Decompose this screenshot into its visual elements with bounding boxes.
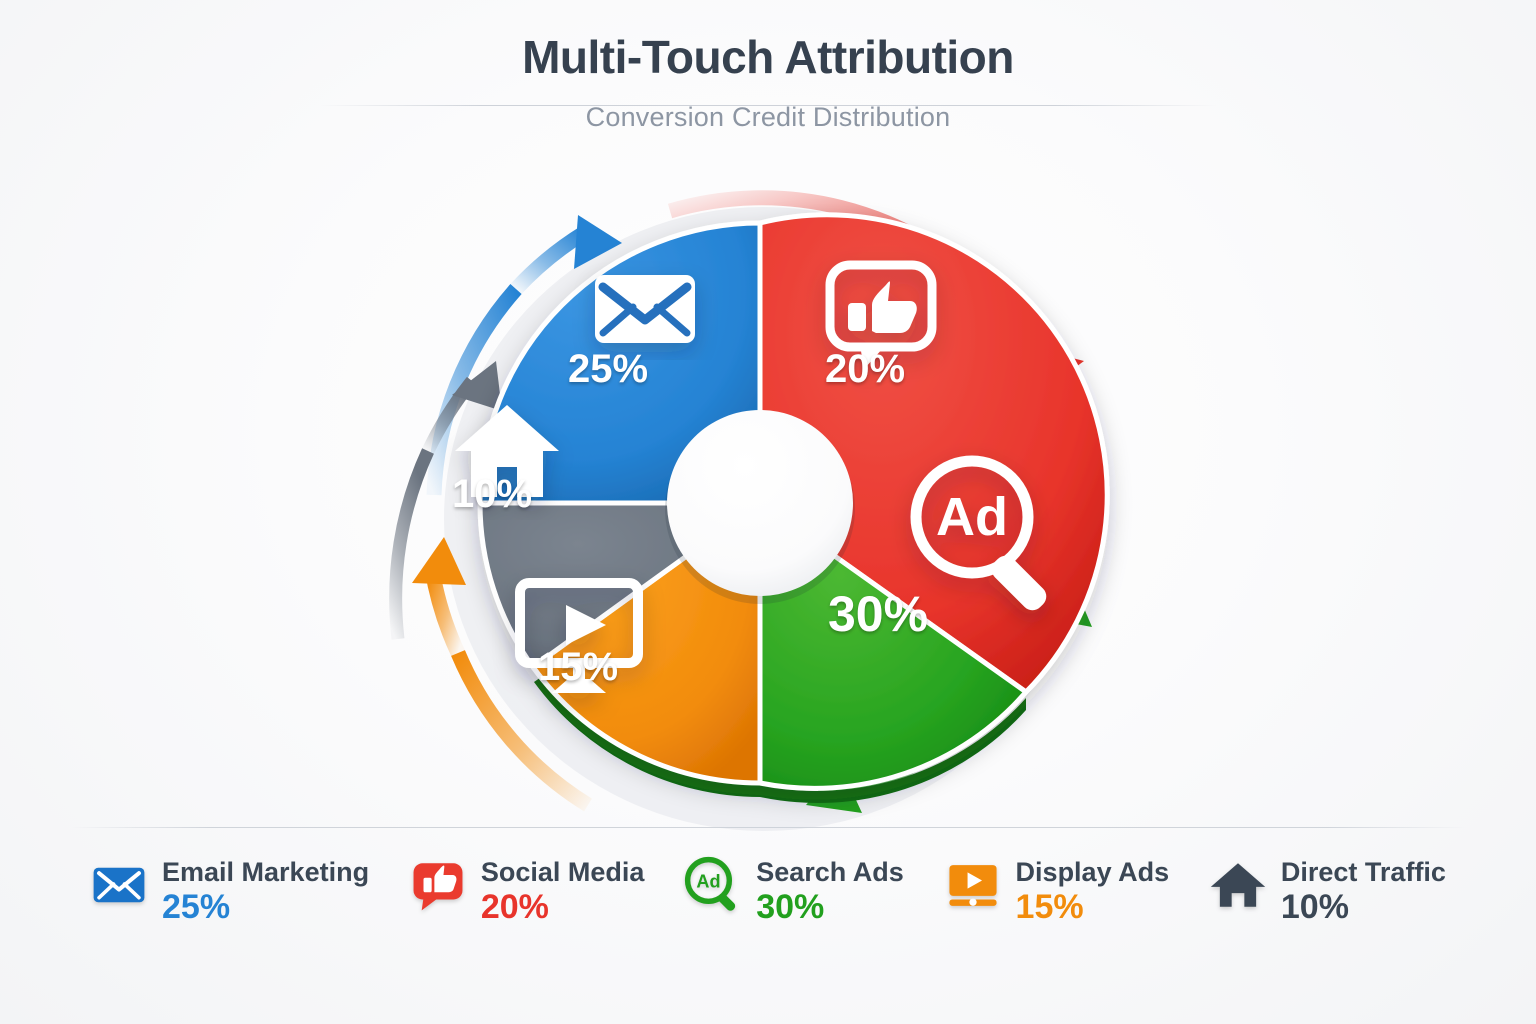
- legend-percent: 10%: [1281, 890, 1446, 926]
- donut-chart-svg: Ad: [370, 165, 1150, 825]
- legend-item-social-media[interactable]: Social Media 20%: [409, 856, 645, 926]
- legend-divider: [70, 827, 1466, 828]
- donut-hole: [667, 410, 853, 596]
- legend-item-direct-traffic[interactable]: Direct Traffic 10%: [1209, 856, 1446, 926]
- legend-label: Search Ads: [756, 858, 904, 886]
- legend-label: Direct Traffic: [1281, 858, 1446, 886]
- envelope-icon: [90, 856, 148, 914]
- title-divider: [320, 105, 1216, 106]
- ad-magnifier-icon: Ad: [684, 856, 742, 914]
- house-icon: [1209, 856, 1267, 914]
- legend-label: Display Ads: [1016, 858, 1170, 886]
- page-subtitle: Conversion Credit Distribution: [0, 84, 1536, 133]
- legend-percent: 25%: [162, 890, 369, 926]
- legend-item-search-ads[interactable]: Ad Search Ads 30%: [684, 856, 904, 926]
- envelope-icon: [595, 275, 695, 343]
- legend-item-display-ads[interactable]: Display Ads 15%: [944, 856, 1170, 926]
- svg-text:Ad: Ad: [936, 487, 1008, 547]
- legend-item-email-marketing[interactable]: Email Marketing 25%: [90, 856, 369, 926]
- chart-legend: Email Marketing 25% Social Media 20% Ad …: [90, 856, 1446, 976]
- donut-chart: Ad 25% 20% 30% 15% 10%: [370, 165, 1150, 825]
- thumbs-up-bubble-icon: [409, 856, 467, 914]
- chart-header: Multi-Touch Attribution Conversion Credi…: [0, 0, 1536, 170]
- page-title: Multi-Touch Attribution: [0, 0, 1536, 84]
- monitor-play-icon: [944, 856, 1002, 914]
- legend-label: Email Marketing: [162, 858, 369, 886]
- legend-percent: 20%: [481, 890, 645, 926]
- legend-percent: 30%: [756, 890, 904, 926]
- legend-percent: 15%: [1016, 890, 1170, 926]
- svg-text:Ad: Ad: [697, 872, 721, 892]
- legend-label: Social Media: [481, 858, 645, 886]
